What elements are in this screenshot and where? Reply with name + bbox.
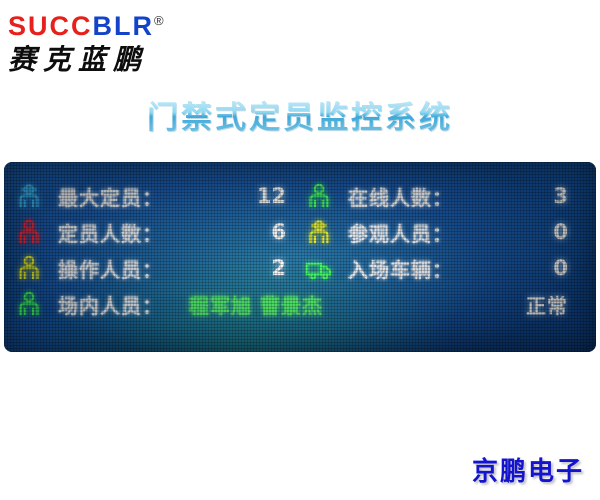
led-value: 3 xyxy=(553,184,568,208)
brand-wordmark-blue: BLR xyxy=(93,11,155,41)
led-cell-left: 操作人员：2 xyxy=(14,253,304,283)
led-value: 12 xyxy=(257,184,286,208)
registered-trademark-icon: ® xyxy=(154,13,164,28)
brand-chinese-name: 赛克蓝鹏 xyxy=(8,43,228,77)
led-cell-right: 入场车辆：0 xyxy=(304,253,586,283)
onsite-personnel-names: 程军旭 曹景杰 xyxy=(189,290,323,319)
led-label: 操作人员： xyxy=(58,254,163,283)
table-row: 最大定员：12在线人数：3 xyxy=(14,178,586,214)
person-red-icon xyxy=(14,217,44,247)
brand-logo: SUCCBLR® 赛克蓝鹏 xyxy=(8,6,228,76)
person-yellow-icon xyxy=(14,253,44,283)
led-value: 2 xyxy=(271,256,286,280)
person-hardhat-yellow-icon xyxy=(304,217,334,247)
status-badge: 正常 xyxy=(526,290,568,319)
brand-wordmark-red: SUCC xyxy=(8,11,93,41)
led-label: 参观人员： xyxy=(348,218,453,247)
footer-company-name: 京鹏电子 xyxy=(472,451,584,488)
table-row: 定员人数：6参观人员：0 xyxy=(14,214,586,250)
led-display-panel: 最大定员：12在线人数：3定员人数：6参观人员：0操作人员：2入场车辆：0场内人… xyxy=(4,162,596,352)
led-label: 入场车辆： xyxy=(348,254,453,283)
table-row: 场内人员：程军旭 曹景杰正常 xyxy=(14,286,586,322)
brand-wordmark: SUCCBLR® xyxy=(8,6,228,41)
led-cell-right: 在线人数：3 xyxy=(304,181,586,211)
person-green-icon xyxy=(304,181,334,211)
person-green-icon xyxy=(14,289,44,319)
led-value: 0 xyxy=(553,220,568,244)
led-cell-left: 最大定员：12 xyxy=(14,181,304,211)
page-title: 门禁式定员监控系统 xyxy=(0,92,600,137)
truck-green-icon xyxy=(304,253,334,283)
led-cell-right: 参观人员：0 xyxy=(304,217,586,247)
led-label: 定员人数： xyxy=(58,218,163,247)
led-label: 在线人数： xyxy=(348,182,453,211)
led-label: 场内人员： xyxy=(58,290,163,319)
led-value: 6 xyxy=(271,220,286,244)
led-rows-container: 最大定员：12在线人数：3定员人数：6参观人员：0操作人员：2入场车辆：0场内人… xyxy=(4,162,596,352)
led-value: 0 xyxy=(553,256,568,280)
led-label: 最大定员： xyxy=(58,182,163,211)
table-row: 操作人员：2入场车辆：0 xyxy=(14,250,586,286)
led-cell-left: 定员人数：6 xyxy=(14,217,304,247)
person-hardhat-cyan-icon xyxy=(14,181,44,211)
